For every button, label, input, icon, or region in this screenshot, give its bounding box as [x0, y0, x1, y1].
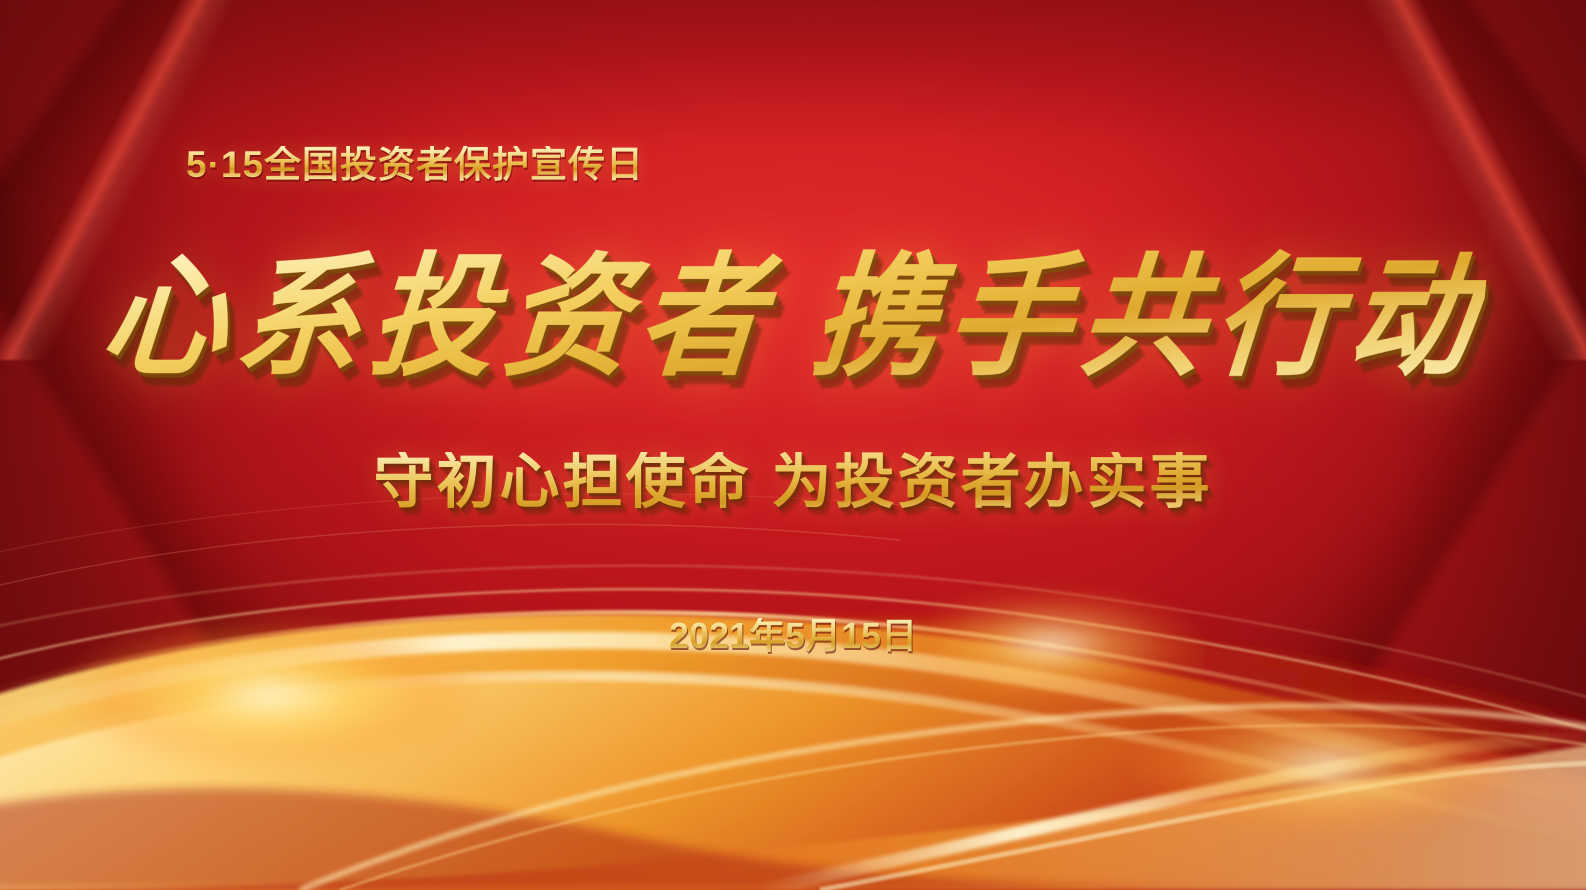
subtitle-part-two: 为投资者办实事 [772, 448, 1213, 515]
headline-part-one: 心系投资者 [96, 240, 780, 395]
headline-calligraphy: 心系投资者携手共行动 [97, 245, 1490, 391]
headline-block: 心系投资者携手共行动 [0, 250, 1586, 410]
event-date-label: 2021年5月15日 [0, 618, 1586, 654]
poster-canvas: 5·15全国投资者保护宣传日 心系投资者携手共行动 守初心担使命为投资者办实事 … [0, 0, 1586, 890]
poster-content: 5·15全国投资者保护宣传日 心系投资者携手共行动 守初心担使命为投资者办实事 … [0, 0, 1586, 890]
headline-part-two: 携手共行动 [806, 240, 1490, 395]
subtitle-part-one: 守初心担使命 [374, 448, 752, 515]
subtitle-block: 守初心担使命为投资者办实事 [0, 452, 1586, 512]
event-eyebrow-label: 5·15全国投资者保护宣传日 [186, 146, 644, 183]
